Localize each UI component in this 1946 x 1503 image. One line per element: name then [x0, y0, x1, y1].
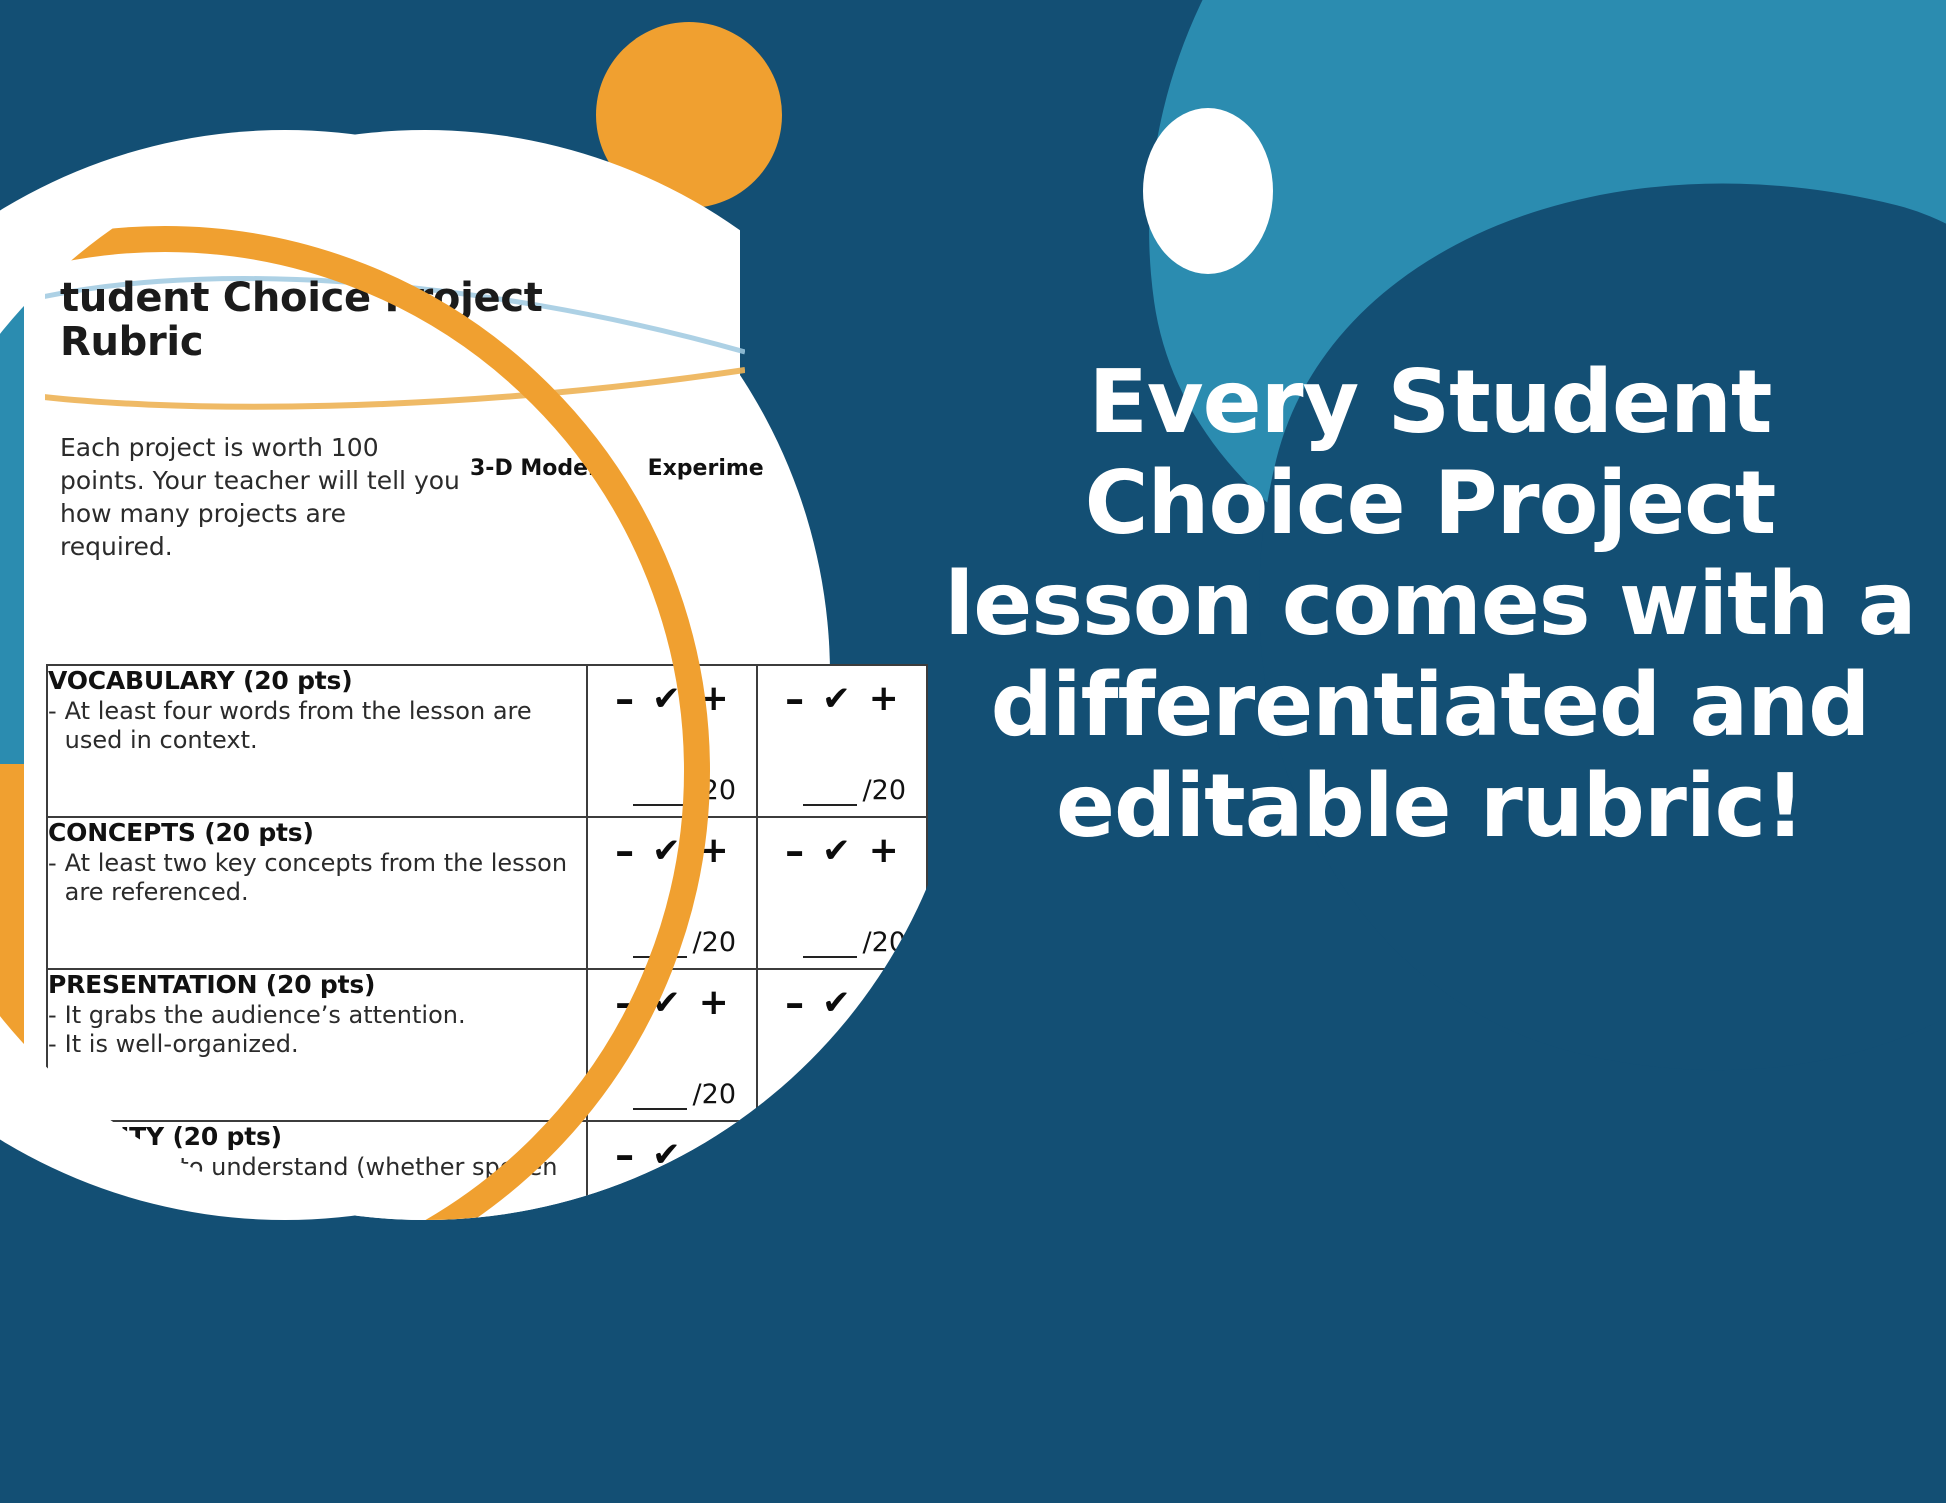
plus-mark-icon[interactable]: +: [699, 985, 729, 1021]
score-cell-inner: –✔+/20: [588, 818, 756, 968]
check-mark-icon[interactable]: ✔: [822, 834, 851, 868]
score-cell-inner: –✔+/20: [588, 970, 756, 1120]
score-entry-line[interactable]: /20: [598, 927, 746, 958]
score-cell-inner: –✔+/20: [758, 666, 926, 816]
score-entry-line[interactable]: /20: [598, 1079, 746, 1110]
criterion-name: CONCEPTS (20 pts): [48, 818, 586, 847]
minus-mark-icon[interactable]: –: [785, 984, 804, 1022]
plus-mark-icon[interactable]: +: [699, 833, 729, 869]
check-mark-icon[interactable]: ✔: [822, 986, 851, 1020]
criterion-name: VOCABULARY (20 pts): [48, 666, 586, 695]
score-cell[interactable]: –✔+/20: [587, 969, 757, 1121]
table-row: CONCEPTS (20 pts)-At least two key conce…: [47, 817, 927, 969]
criterion-bullet: -At least two key concepts from the less…: [48, 849, 586, 908]
plus-mark-icon[interactable]: +: [699, 681, 729, 717]
minus-mark-icon[interactable]: –: [615, 832, 634, 870]
criterion-cell: PRESENTATION (20 pts)-It grabs the audie…: [47, 969, 587, 1121]
score-denominator: /20: [693, 1079, 736, 1110]
score-cell-inner: –✔+/20: [588, 666, 756, 816]
score-marks: –✔+: [768, 832, 916, 870]
score-cell[interactable]: –✔+/20: [757, 665, 927, 817]
score-blank-field[interactable]: [803, 784, 857, 806]
table-row: VOCABULARY (20 pts)-At least four words …: [47, 665, 927, 817]
bullet-text: At least four words from the lesson are …: [65, 697, 586, 756]
document-intro-text: Each project is worth 100 points. Your t…: [60, 431, 460, 563]
check-mark-icon[interactable]: ✔: [652, 986, 681, 1020]
promo-graphic: tudent Choice Project Rubric Each projec…: [0, 0, 1946, 1503]
minus-mark-icon[interactable]: –: [615, 984, 634, 1022]
table-column-headers: 3-D Model Experime: [470, 456, 890, 481]
bullet-marker: -: [48, 849, 57, 908]
criterion-bullet: -It is well-organized.: [48, 1030, 586, 1059]
minus-mark-icon[interactable]: –: [615, 680, 634, 718]
score-marks: –✔+: [598, 680, 746, 718]
score-denominator: /20: [693, 775, 736, 806]
score-marks: –✔+: [598, 832, 746, 870]
score-blank-field[interactable]: [633, 936, 687, 958]
criterion-bullet: -At least four words from the lesson are…: [48, 697, 586, 756]
check-mark-icon[interactable]: ✔: [652, 682, 681, 716]
criterion-cell: VOCABULARY (20 pts)-At least four words …: [47, 665, 587, 817]
minus-mark-icon[interactable]: –: [785, 832, 804, 870]
criterion-bullet: -It grabs the audience’s attention.: [48, 1001, 586, 1030]
score-cell[interactable]: –✔+/20: [587, 665, 757, 817]
document-title: tudent Choice Project Rubric: [60, 276, 760, 364]
score-entry-line[interactable]: /20: [768, 775, 916, 806]
bullet-text: At least two key concepts from the lesso…: [65, 849, 586, 908]
check-mark-icon[interactable]: ✔: [822, 682, 851, 716]
score-cell[interactable]: –✔+/20: [587, 817, 757, 969]
score-blank-field[interactable]: [633, 784, 687, 806]
score-entry-line[interactable]: /20: [598, 775, 746, 806]
bullet-text: It grabs the audience’s attention.: [65, 1001, 586, 1030]
plus-mark-icon[interactable]: +: [869, 681, 899, 717]
score-marks: –✔+: [598, 984, 746, 1022]
score-denominator: /20: [693, 927, 736, 958]
column-header-experiment: Experime: [648, 456, 764, 481]
score-denominator: /20: [863, 775, 906, 806]
check-mark-icon[interactable]: ✔: [652, 834, 681, 868]
bullet-marker: -: [48, 1030, 57, 1059]
plus-mark-icon[interactable]: +: [869, 833, 899, 869]
criterion-cell: CONCEPTS (20 pts)-At least two key conce…: [47, 817, 587, 969]
score-blank-field[interactable]: [633, 1088, 687, 1110]
minus-mark-icon[interactable]: –: [785, 680, 804, 718]
score-marks: –✔+: [768, 680, 916, 718]
bullet-marker: -: [48, 697, 57, 756]
decorative-white-circle: [1143, 108, 1273, 274]
bullet-marker: -: [48, 1001, 57, 1030]
headline-text: Every Student Choice Project lesson come…: [930, 352, 1930, 857]
bullet-text: It is well-organized.: [65, 1030, 586, 1059]
document-title-block: tudent Choice Project Rubric: [60, 276, 760, 364]
minus-mark-icon[interactable]: –: [615, 1136, 634, 1174]
score-blank-field[interactable]: [803, 936, 857, 958]
column-header-3d-model: 3-D Model: [470, 456, 596, 481]
criterion-name: PRESENTATION (20 pts): [48, 970, 586, 999]
